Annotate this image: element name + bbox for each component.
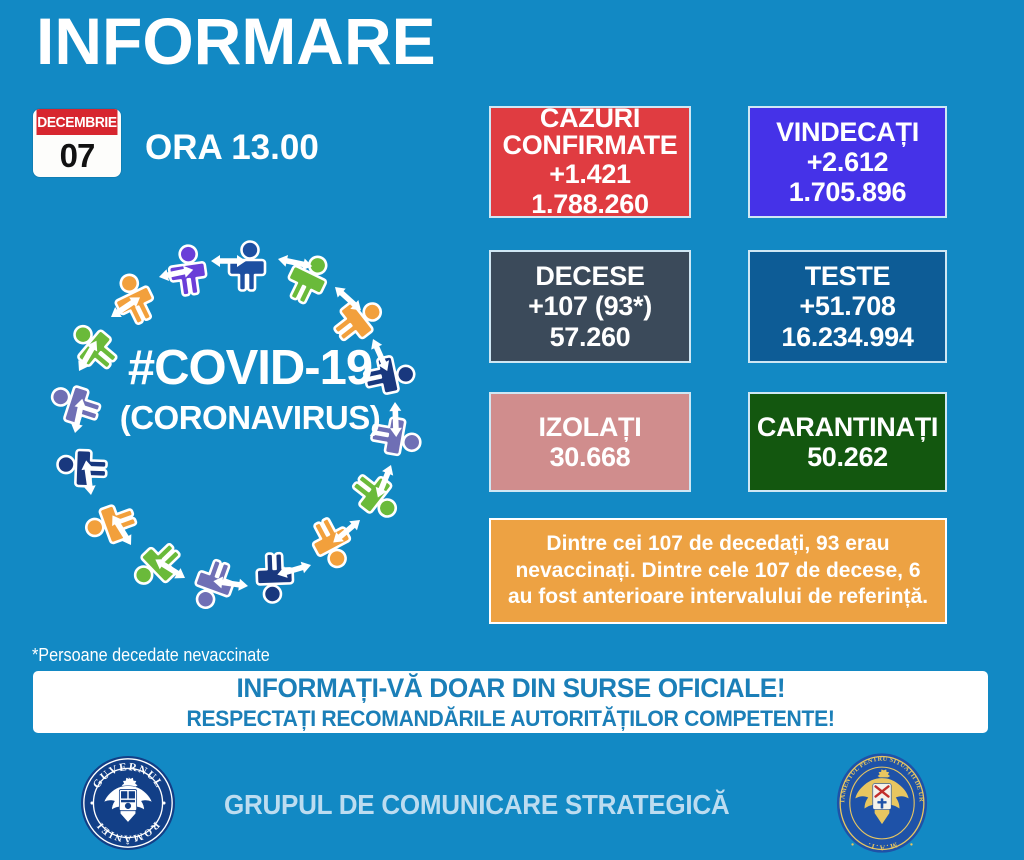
people-circle-svg [35, 225, 465, 635]
stat-delta-vindecati: +2.612 [807, 147, 889, 177]
page-title: INFORMARE [36, 8, 436, 74]
stat-label-carantinati: CARANTINAȚI [757, 412, 938, 442]
stat-total-cazuri: 1.788.260 [531, 189, 648, 219]
stat-delta-cazuri: +1.421 [549, 159, 631, 189]
footnote-text: *Persoane decedate nevaccinate [32, 645, 270, 666]
calendar-month-label: DECEMBRIE [37, 109, 118, 135]
stat-delta-decese: +107 (93*) [528, 291, 652, 321]
official-sources-banner: INFORMAȚI-VĂ DOAR DIN SURSE OFICIALE! RE… [33, 671, 988, 733]
stat-total-carantinati: 50.262 [807, 442, 888, 472]
stat-total-izolati: 30.668 [550, 442, 631, 472]
covid-informare-poster: INFORMARE DECEMBRIE 07 ORA 13.00 [0, 0, 1024, 860]
stat-box-vindecati: VINDECAȚI +2.612 1.705.896 [748, 106, 947, 218]
stat-total-vindecati: 1.705.896 [789, 177, 906, 207]
stat-total-teste: 16.234.994 [781, 322, 913, 352]
banner-line-1: INFORMAȚI-VĂ DOAR DIN SURSE OFICIALE! [236, 673, 785, 704]
calendar-icon: DECEMBRIE 07 [33, 109, 121, 177]
calendar-day-label: 07 [33, 135, 121, 177]
stat-label-izolati: IZOLAȚI [539, 412, 642, 442]
stat-label-teste: TESTE [805, 261, 891, 291]
banner-line-2: RESPECTAȚI RECOMANDĂRILE AUTORITĂȚILOR C… [186, 706, 834, 732]
vaccination-note-box: Dintre cei 107 de decedați, 93 erau neva… [489, 518, 947, 624]
covid-people-circle-graphic: #COVID-19 (CORONAVIRUS) [35, 225, 465, 635]
stat-box-teste: TESTE +51.708 16.234.994 [748, 250, 947, 363]
footer-organization-label: GRUPUL DE COMUNICARE STRATEGICĂ [224, 789, 729, 821]
stat-label-vindecati: VINDECAȚI [776, 117, 919, 147]
dsu-mai-logo: DEPARTAMENTUL PENTRU SITUAȚII DE URGENȚĂ… [836, 752, 928, 854]
stat-box-cazuri-confirmate: CAZURI CONFIRMATE +1.421 1.788.260 [489, 106, 691, 218]
stat-box-carantinati: CARANTINAȚI 50.262 [748, 392, 947, 492]
stat-label-decese: DECESE [535, 261, 644, 291]
hour-label: ORA 13.00 [145, 128, 319, 168]
stat-delta-teste: +51.708 [799, 291, 895, 321]
stat-label-cazuri-line1: CAZURI [540, 105, 640, 132]
stat-box-izolati: IZOLAȚI 30.668 [489, 392, 691, 492]
stat-total-decese: 57.260 [550, 322, 631, 352]
stat-box-decese: DECESE +107 (93*) 57.260 [489, 250, 691, 363]
guvernul-romaniei-logo: GUVERNUL ROMÂNIEI [80, 755, 176, 851]
stat-label-cazuri-line2: CONFIRMATE [503, 132, 678, 159]
